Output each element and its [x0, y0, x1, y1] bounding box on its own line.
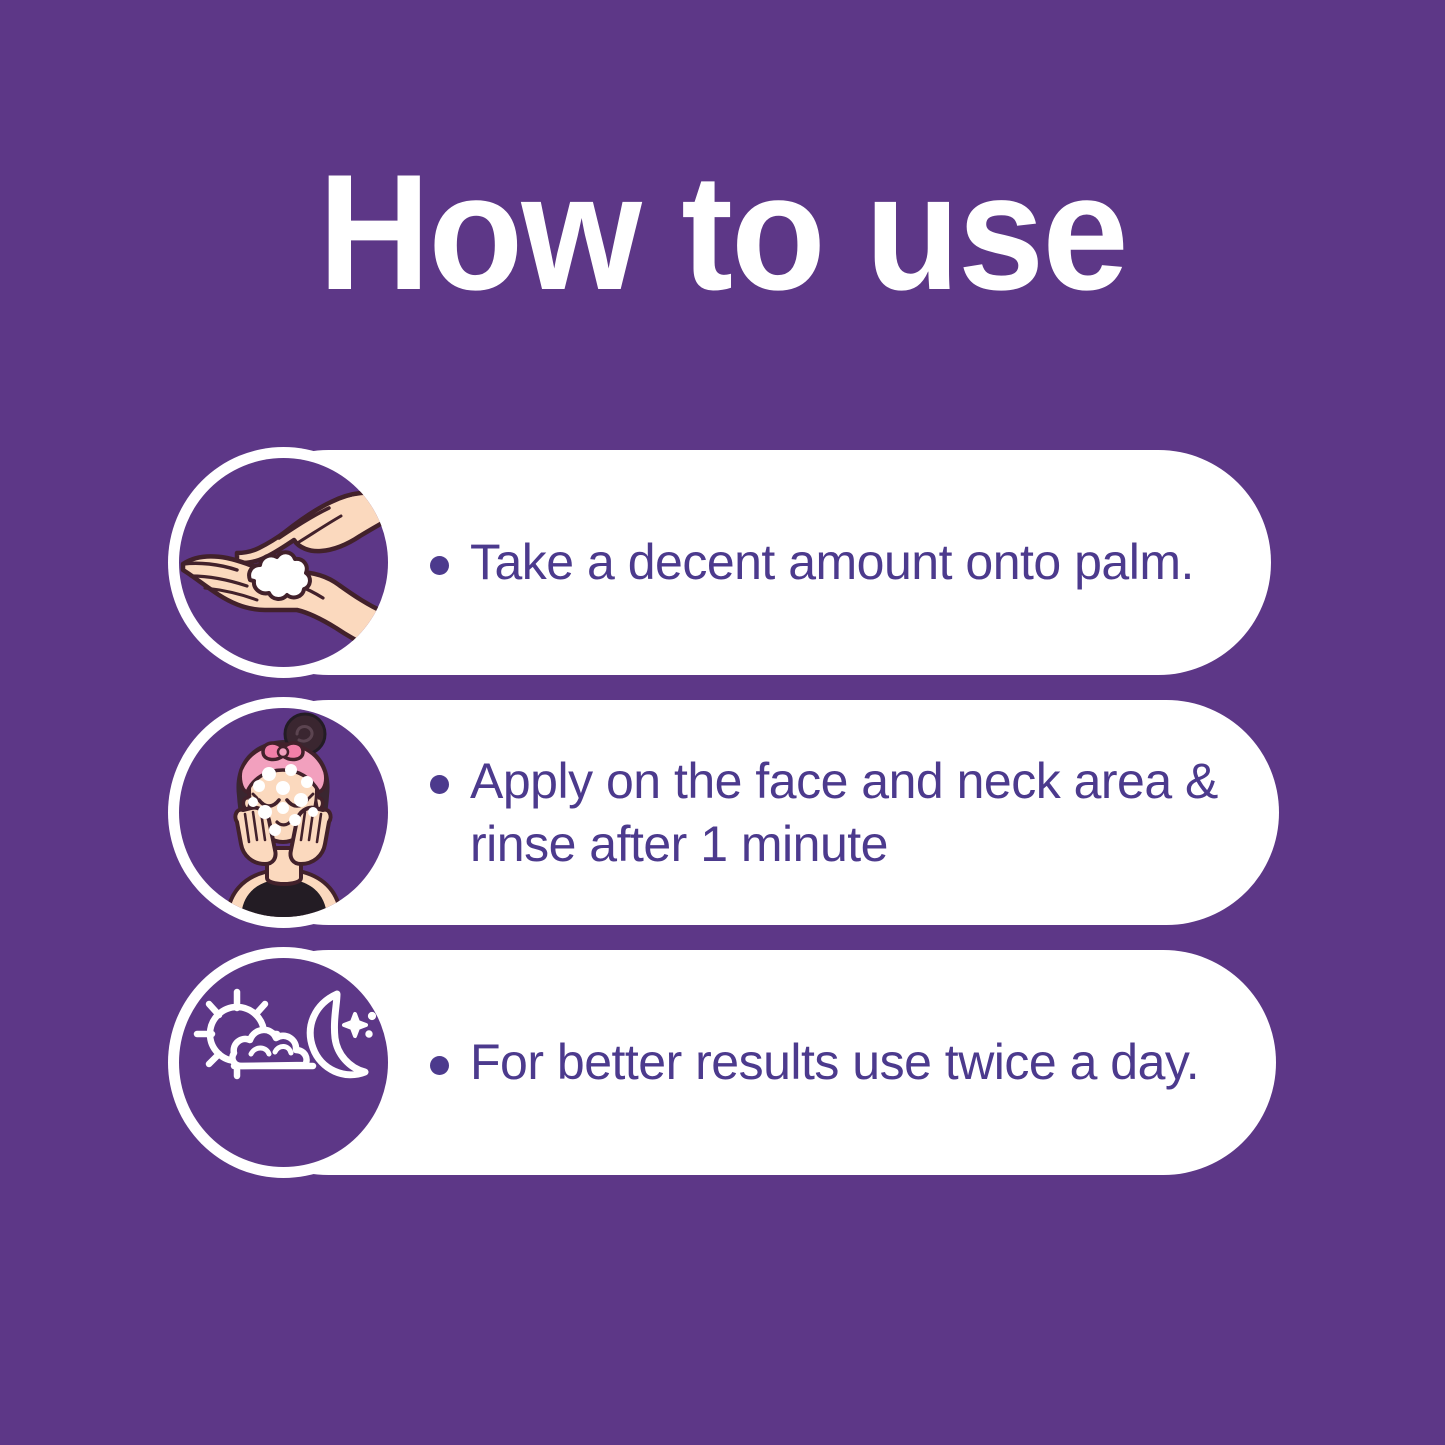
step-row-1: Take a decent amount onto palm.	[0, 450, 1445, 675]
woman-washing-face-icon	[179, 708, 388, 917]
steps-list: Take a decent amount onto palm.	[0, 450, 1445, 1175]
step-text-1: Take a decent amount onto palm.	[430, 450, 1240, 675]
sun-cloud-moon-stars-icon	[179, 958, 388, 1167]
bullet-icon	[430, 775, 449, 794]
step-icon-badge-2	[168, 697, 399, 928]
step-row-3: For better results use twice a day.	[0, 950, 1445, 1175]
step-label-2: Apply on the face and neck area & rinse …	[470, 753, 1218, 872]
step-row-2: Apply on the face and neck area & rinse …	[0, 700, 1445, 925]
step-label-1: Take a decent amount onto palm.	[470, 534, 1194, 590]
page-title: How to use	[43, 150, 1401, 315]
step-icon-badge-3	[168, 947, 399, 1178]
step-icon-badge-1	[168, 447, 399, 678]
bullet-icon	[430, 556, 449, 575]
step-text-3: For better results use twice a day.	[430, 950, 1240, 1175]
how-to-use-poster: How to use	[0, 0, 1445, 1445]
step-text-2: Apply on the face and neck area & rinse …	[430, 700, 1240, 925]
bullet-icon	[430, 1056, 449, 1075]
hand-dispensing-cream-icon	[179, 458, 388, 667]
step-label-3: For better results use twice a day.	[470, 1034, 1199, 1090]
